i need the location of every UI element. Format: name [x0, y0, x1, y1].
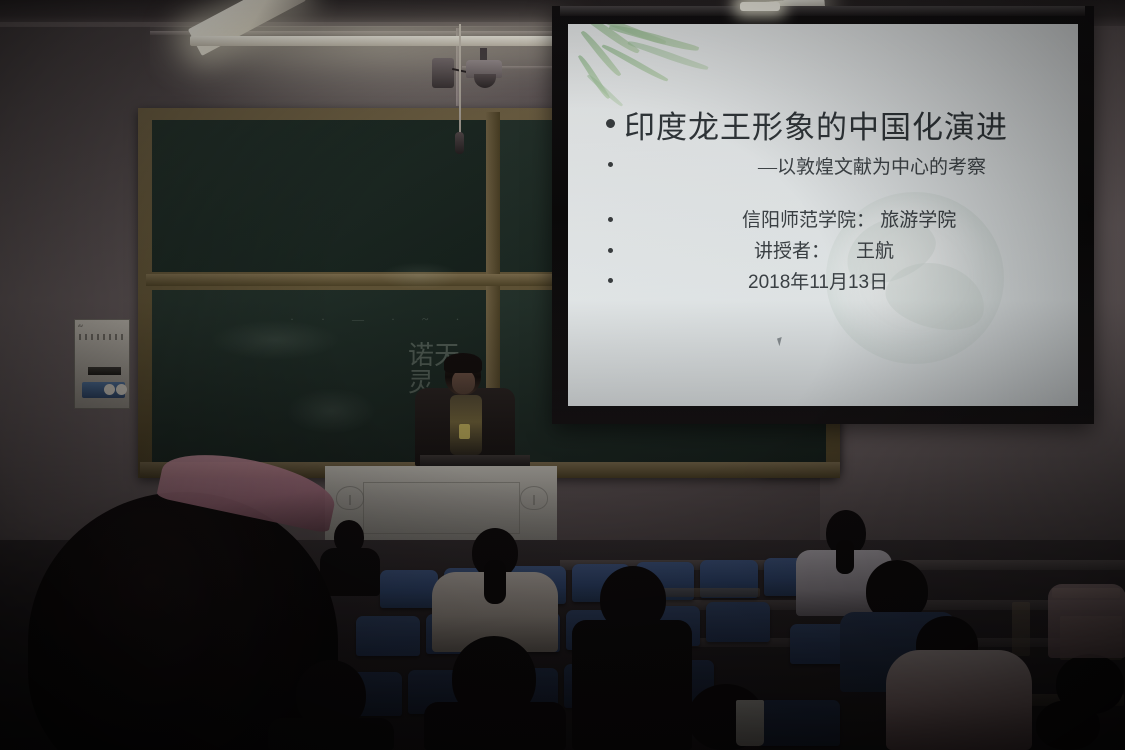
slide-bullet: [608, 217, 613, 222]
chalk-smudge: [210, 320, 340, 360]
screen-pull-handle[interactable]: [455, 132, 464, 154]
lecture-hall-photo: · · — · ~ · 诺天 灵 印度龙王形象的中国化演进 —以敦煌文献为中心的…: [0, 0, 1125, 750]
control-panel-knob[interactable]: [104, 384, 115, 395]
presentation-slide: 印度龙王形象的中国化演进 —以敦煌文献为中心的考察 信阳师范学院： 旅游学院 讲…: [568, 24, 1078, 406]
slide-presenter-name: 王航: [856, 236, 894, 263]
podium-panel: [363, 482, 520, 534]
camera-housing: [432, 58, 454, 88]
slide-bullet: [608, 248, 613, 253]
audience-torso: [320, 548, 380, 596]
chalk-smudge: [380, 262, 460, 290]
audience-head: [1036, 700, 1100, 750]
ponytail: [484, 560, 506, 604]
screen-pull-cord[interactable]: [459, 24, 461, 136]
paper-cup: [736, 700, 764, 746]
mouse-cursor-icon[interactable]: [777, 336, 788, 346]
seat[interactable]: [380, 570, 438, 608]
ponytail: [836, 540, 854, 574]
blackboard-panel: [152, 120, 486, 272]
slide-affiliation: 信阳师范学院： 旅游学院: [742, 205, 956, 232]
slide-bullet: [608, 162, 613, 167]
control-panel-display: [88, 367, 121, 375]
seat[interactable]: [706, 602, 770, 642]
presenter-badge: [459, 424, 470, 439]
slide-bullet: [606, 119, 615, 128]
light-reflection: [740, 2, 780, 11]
slide-title: 印度龙王形象的中国化演进: [624, 102, 1054, 147]
control-panel-knob[interactable]: [116, 384, 127, 395]
podium-emblem-icon: [336, 486, 364, 510]
slide-date: 2018年11月13日: [748, 267, 888, 294]
audience-torso: [424, 702, 566, 750]
presenter-hair: [444, 353, 482, 373]
audience-torso: [886, 650, 1032, 750]
podium-emblem-icon: [520, 486, 548, 510]
slide-presenter-label: 讲授者：: [754, 236, 830, 263]
desk: [1012, 602, 1030, 656]
audience-torso: [572, 620, 692, 750]
slide-bullet: [608, 278, 613, 283]
presenter-face: [452, 370, 475, 394]
control-panel-buttons[interactable]: [79, 334, 123, 340]
ceiling-light-icon: [190, 36, 562, 46]
seat[interactable]: [356, 616, 420, 656]
audience-torso: [268, 718, 394, 750]
seat[interactable]: [760, 700, 840, 746]
bamboo-leaf-icon: [587, 73, 624, 109]
slide-subtitle: —以敦煌文献为中心的考察: [758, 152, 1058, 179]
control-panel-brand: AV: [78, 323, 83, 328]
screen-top-edge: [560, 6, 1085, 16]
audience-torso: [1048, 584, 1125, 658]
chalk-smudge: [286, 388, 376, 434]
